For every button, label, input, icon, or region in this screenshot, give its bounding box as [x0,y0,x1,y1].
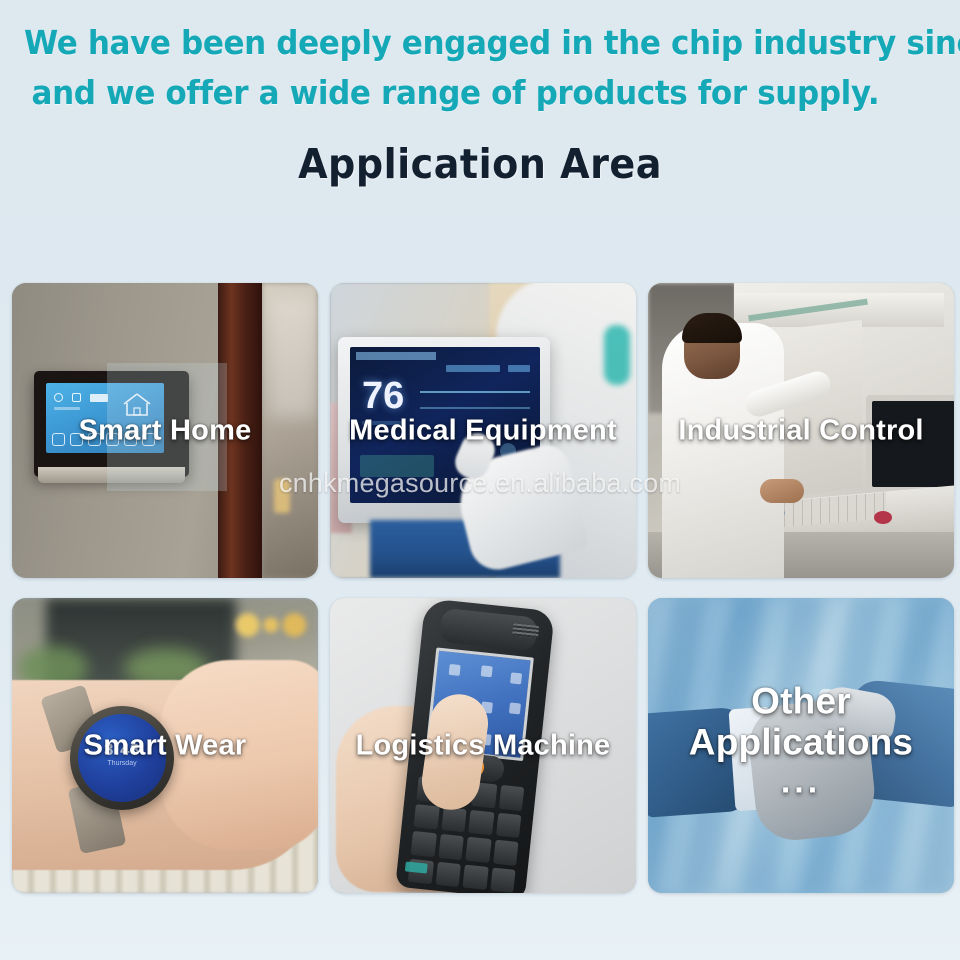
technician-hand [760,479,804,503]
smartwatch-icon: 3:43 Thursday [70,706,174,810]
monitor-screen [872,401,954,487]
desktop-icon-6 [509,702,521,714]
headline-block: We have been deeply engaged in the chip … [0,0,960,118]
keypad-key [498,785,524,811]
vignette [648,598,954,893]
desktop-icon-1 [449,664,461,676]
desktop-icon-2 [481,665,493,677]
keypad-key [435,861,461,887]
card-smart-wear[interactable]: 3:43 Thursday Smart Wear [12,598,318,893]
headline-line-1: We have been deeply engaged in the chip … [24,18,881,68]
watch-time: 3:43 [78,740,166,760]
keypad-key [441,807,467,833]
keypad-key [438,834,464,860]
shortcut-icon-1 [52,433,65,446]
shortcut-icon-3 [88,433,101,446]
card-smart-home[interactable]: Smart Home [12,283,318,578]
card-medical-equipment[interactable]: 76 Medical Equipment [330,283,636,578]
lamp-glow [274,479,290,513]
keypad-key [468,809,494,835]
keypad-key [465,837,491,863]
monitor-statusbar [356,352,436,360]
other-applications-scene [648,598,954,893]
keypad-key [414,804,440,830]
smart-home-scene [12,283,318,578]
card-logistics-machine[interactable]: Logistics Machine [330,598,636,893]
monitor-chip-3 [362,421,402,425]
page-title: Application Area [34,140,927,188]
shortcut-icon-2 [70,433,83,446]
keypad-key [496,812,522,838]
smart-wear-scene: 3:43 Thursday [12,598,318,893]
monitor-chip-2 [508,365,530,372]
keypad-key [490,867,516,893]
waveform-trace [420,391,530,393]
card-industrial-control[interactable]: Industrial Control [648,283,954,578]
warm-lights-blur [232,612,310,638]
keypad-key [493,840,519,866]
weather-icon [54,393,63,402]
status-line [54,407,80,410]
spo2-block [360,455,434,477]
application-area-grid: Smart Home 76 [12,283,948,893]
card-other-applications[interactable]: Other Applications ... [648,598,954,893]
watch-subtext: Thursday [78,760,166,767]
watch-face: 3:43 Thursday [78,714,166,802]
speaker-grill [512,623,539,638]
control-monitor [866,395,954,493]
monitor-chip-1 [446,365,500,372]
scan-indicator [405,861,428,873]
teal-equipment [604,325,630,385]
logistics-machine-scene [330,598,636,893]
keypad-key [462,864,488,890]
temperature-readout [90,394,108,402]
emergency-stop-button [874,511,892,524]
window-highlight [270,297,316,417]
calendar-icon [72,393,81,402]
desktop-icon-3 [510,672,522,684]
headline-line-2: and we offer a wide range of products fo… [24,68,881,118]
industrial-control-scene [648,283,954,578]
heart-rate-value: 76 [362,375,404,418]
hand [160,660,318,850]
medical-equipment-scene: 76 [330,283,636,578]
keypad-key [411,831,437,857]
glass-reflection [107,363,227,491]
